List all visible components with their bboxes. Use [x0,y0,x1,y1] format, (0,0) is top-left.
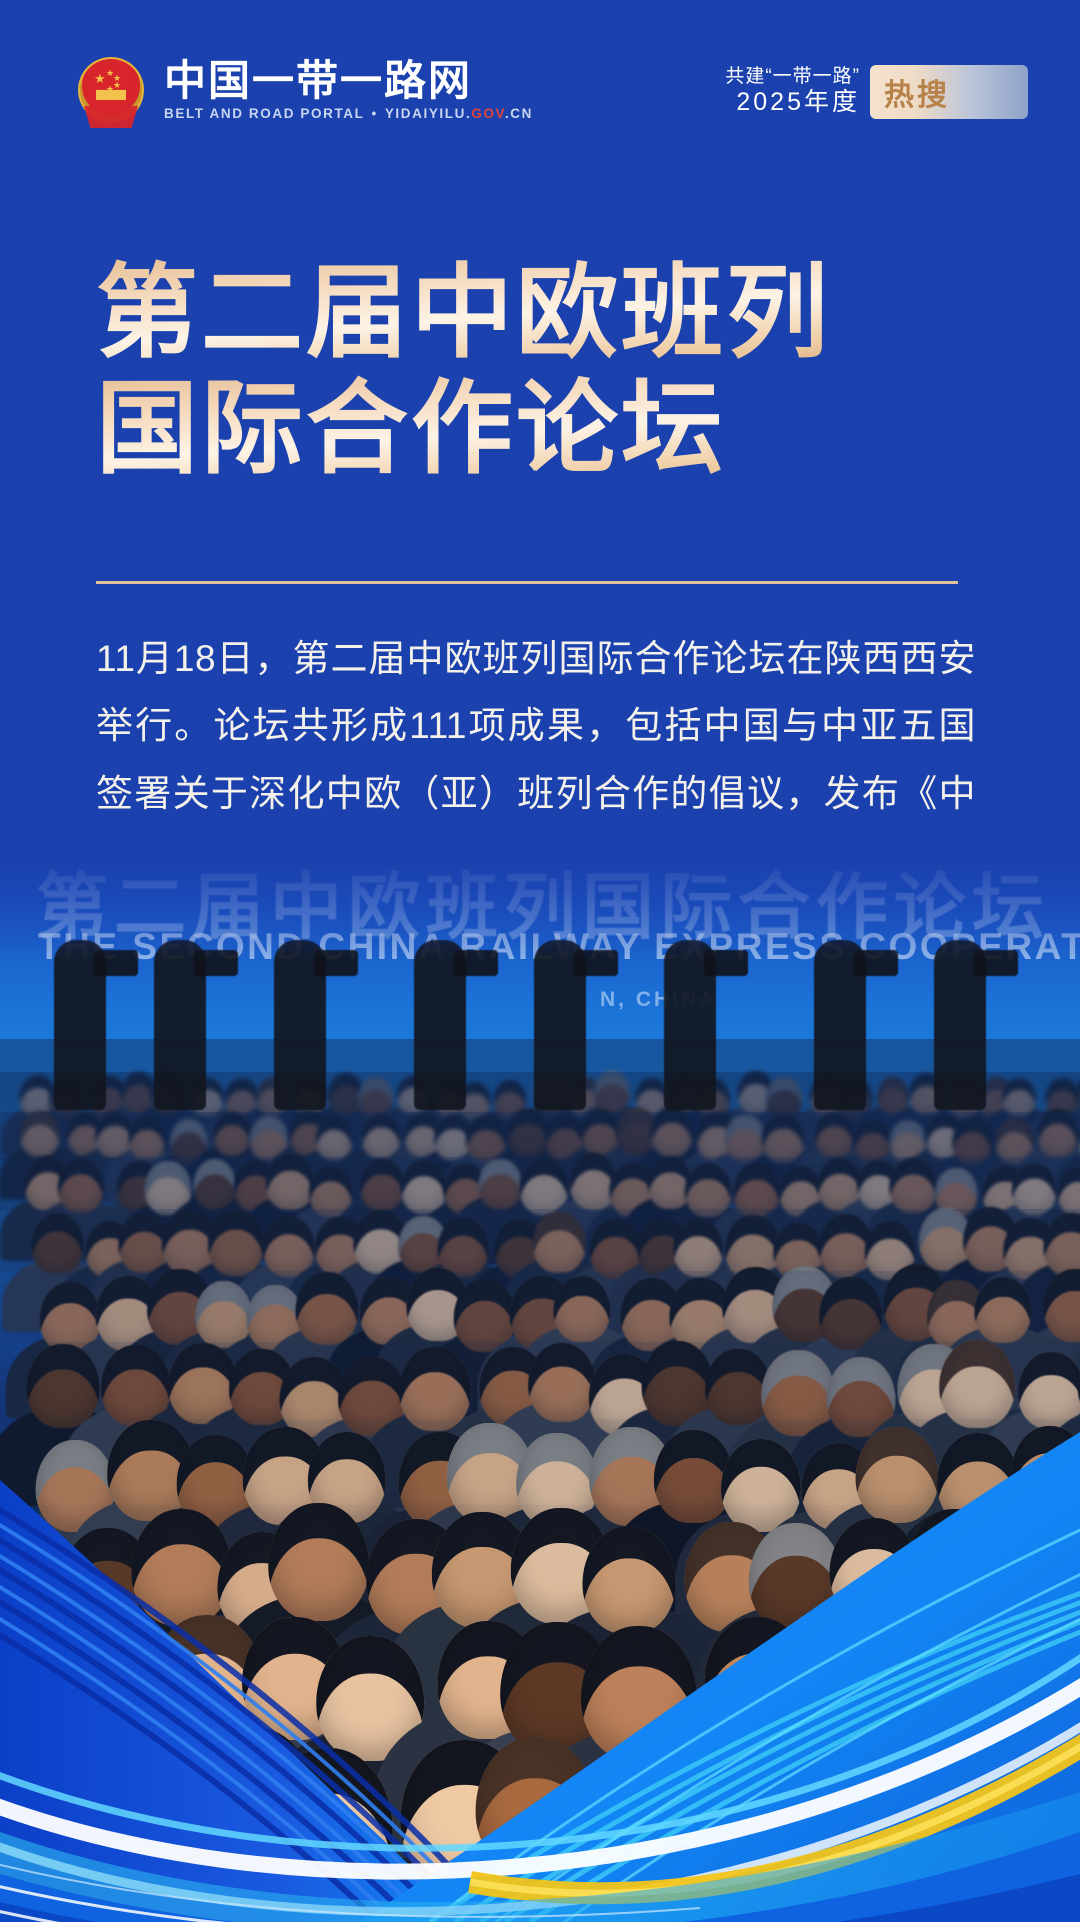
page-title-line-2: 国际合作论坛 [96,371,896,487]
brand-text: 中国一带一路网 BELT AND ROAD PORTAL • YIDAIYILU… [164,60,533,121]
title-divider [96,581,958,584]
page-title: 第二届中欧班列 国际合作论坛 [96,255,896,488]
hot-search-badge: 共建“一带一路” 2025年度 热搜 [725,61,1028,119]
brand-domain-part2: .CN [505,106,533,121]
poster-root: ★★★★★ 中国一带一路网 BELT AND ROAD PORTAL • YID… [0,0,1080,1922]
badge-line-initiative: 共建“一带一路” [725,66,860,88]
page-title-line-1: 第二届中欧班列 [96,255,896,371]
badge-line-year: 2025年度 [736,88,860,118]
badge-lines: 共建“一带一路” 2025年度 [725,66,870,118]
china-national-emblem-icon: ★★★★★ [78,57,144,123]
hot-search-label: 热搜 [884,70,950,114]
audience-person [1053,1696,1080,1922]
brand-name-cn: 中国一带一路网 [164,60,533,102]
brand-domain-gov: GOV [471,106,505,121]
brand-domain: YIDAIYILU.GOV.CN [385,107,533,121]
brand-en-main: BELT AND ROAD PORTAL [164,107,365,121]
poster-header: ★★★★★ 中国一带一路网 BELT AND ROAD PORTAL • YID… [0,0,1080,180]
hot-search-label-box: 热搜 [870,65,1028,119]
brand-name-en: BELT AND ROAD PORTAL • YIDAIYILU.GOV.CN [164,107,533,121]
brand-en-separator: • [372,107,378,121]
forum-audience-photo: 第二届中欧班列国际合作论坛 THE SECOND CHINA RAILWAY E… [0,830,1080,1922]
photo-top-fade [0,830,1080,960]
site-brand[interactable]: ★★★★★ 中国一带一路网 BELT AND ROAD PORTAL • YID… [78,57,533,123]
audience-crowd [0,830,1080,1922]
brand-domain-part1: YIDAIYILU. [385,106,472,121]
